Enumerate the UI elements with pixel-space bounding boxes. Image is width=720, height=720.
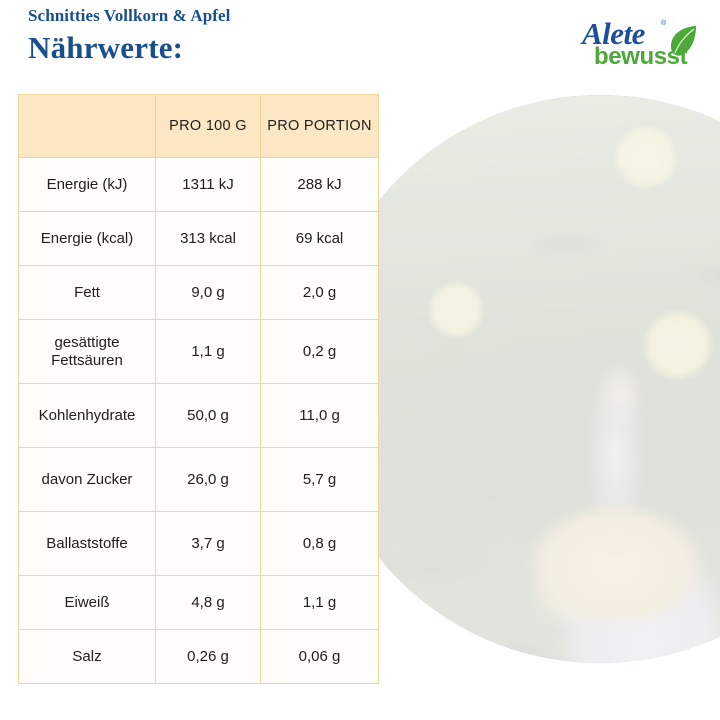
nutrient-label: Energie (kcal) — [19, 212, 156, 266]
nutrient-label: Eiweiß — [19, 576, 156, 630]
value-per-portion: 69 kcal — [261, 212, 379, 266]
table-row: Kohlenhydrate 50,0 g 11,0 g — [19, 384, 379, 448]
value-per-100g: 1,1 g — [156, 320, 261, 384]
value-per-100g: 9,0 g — [156, 266, 261, 320]
value-per-portion: 0,2 g — [261, 320, 379, 384]
value-per-portion: 5,7 g — [261, 448, 379, 512]
column-header-per-portion: PRO PORTION — [261, 95, 379, 158]
value-per-100g: 3,7 g — [156, 512, 261, 576]
value-per-100g: 1311 kJ — [156, 158, 261, 212]
table-body: Energie (kJ) 1311 kJ 288 kJ Energie (kca… — [19, 158, 379, 684]
value-per-100g: 4,8 g — [156, 576, 261, 630]
value-per-100g: 0,26 g — [156, 630, 261, 684]
value-per-100g: 50,0 g — [156, 384, 261, 448]
value-per-portion: 2,0 g — [261, 266, 379, 320]
nutrient-label: davon Zucker — [19, 448, 156, 512]
registered-trademark-icon: ® — [661, 20, 666, 27]
table-row: gesättigte Fettsäuren 1,1 g 0,2 g — [19, 320, 379, 384]
table-row: Energie (kJ) 1311 kJ 288 kJ — [19, 158, 379, 212]
column-header-per-100g: PRO 100 G — [156, 95, 261, 158]
table-row: Eiweiß 4,8 g 1,1 g — [19, 576, 379, 630]
nutrient-label: Ballaststoffe — [19, 512, 156, 576]
product-name: Schnitties Vollkorn & Apfel — [28, 6, 230, 26]
nutrition-table: PRO 100 G PRO PORTION Energie (kJ) 1311 … — [18, 94, 379, 684]
page-title: Nährwerte: — [28, 30, 183, 66]
nutrient-label: Energie (kJ) — [19, 158, 156, 212]
leaf-icon — [668, 24, 698, 58]
table-row: Ballaststoffe 3,7 g 0,8 g — [19, 512, 379, 576]
value-per-portion: 0,8 g — [261, 512, 379, 576]
nutrient-label: Kohlenhydrate — [19, 384, 156, 448]
table-row: Energie (kcal) 313 kcal 69 kcal — [19, 212, 379, 266]
brand-logo: Alete ® bewusst — [582, 16, 702, 76]
value-per-portion: 1,1 g — [261, 576, 379, 630]
table-row: Fett 9,0 g 2,0 g — [19, 266, 379, 320]
nutrient-label: Fett — [19, 266, 156, 320]
table-row: Salz 0,26 g 0,06 g — [19, 630, 379, 684]
value-per-portion: 288 kJ — [261, 158, 379, 212]
value-per-portion: 0,06 g — [261, 630, 379, 684]
table-header-row: PRO 100 G PRO PORTION — [19, 95, 379, 158]
value-per-portion: 11,0 g — [261, 384, 379, 448]
table-header: PRO 100 G PRO PORTION — [19, 95, 379, 158]
nutrient-label: gesättigte Fettsäuren — [19, 320, 156, 384]
value-per-100g: 313 kcal — [156, 212, 261, 266]
nutrient-label: Salz — [19, 630, 156, 684]
table-row: davon Zucker 26,0 g 5,7 g — [19, 448, 379, 512]
column-header-nutrient — [19, 95, 156, 158]
value-per-100g: 26,0 g — [156, 448, 261, 512]
